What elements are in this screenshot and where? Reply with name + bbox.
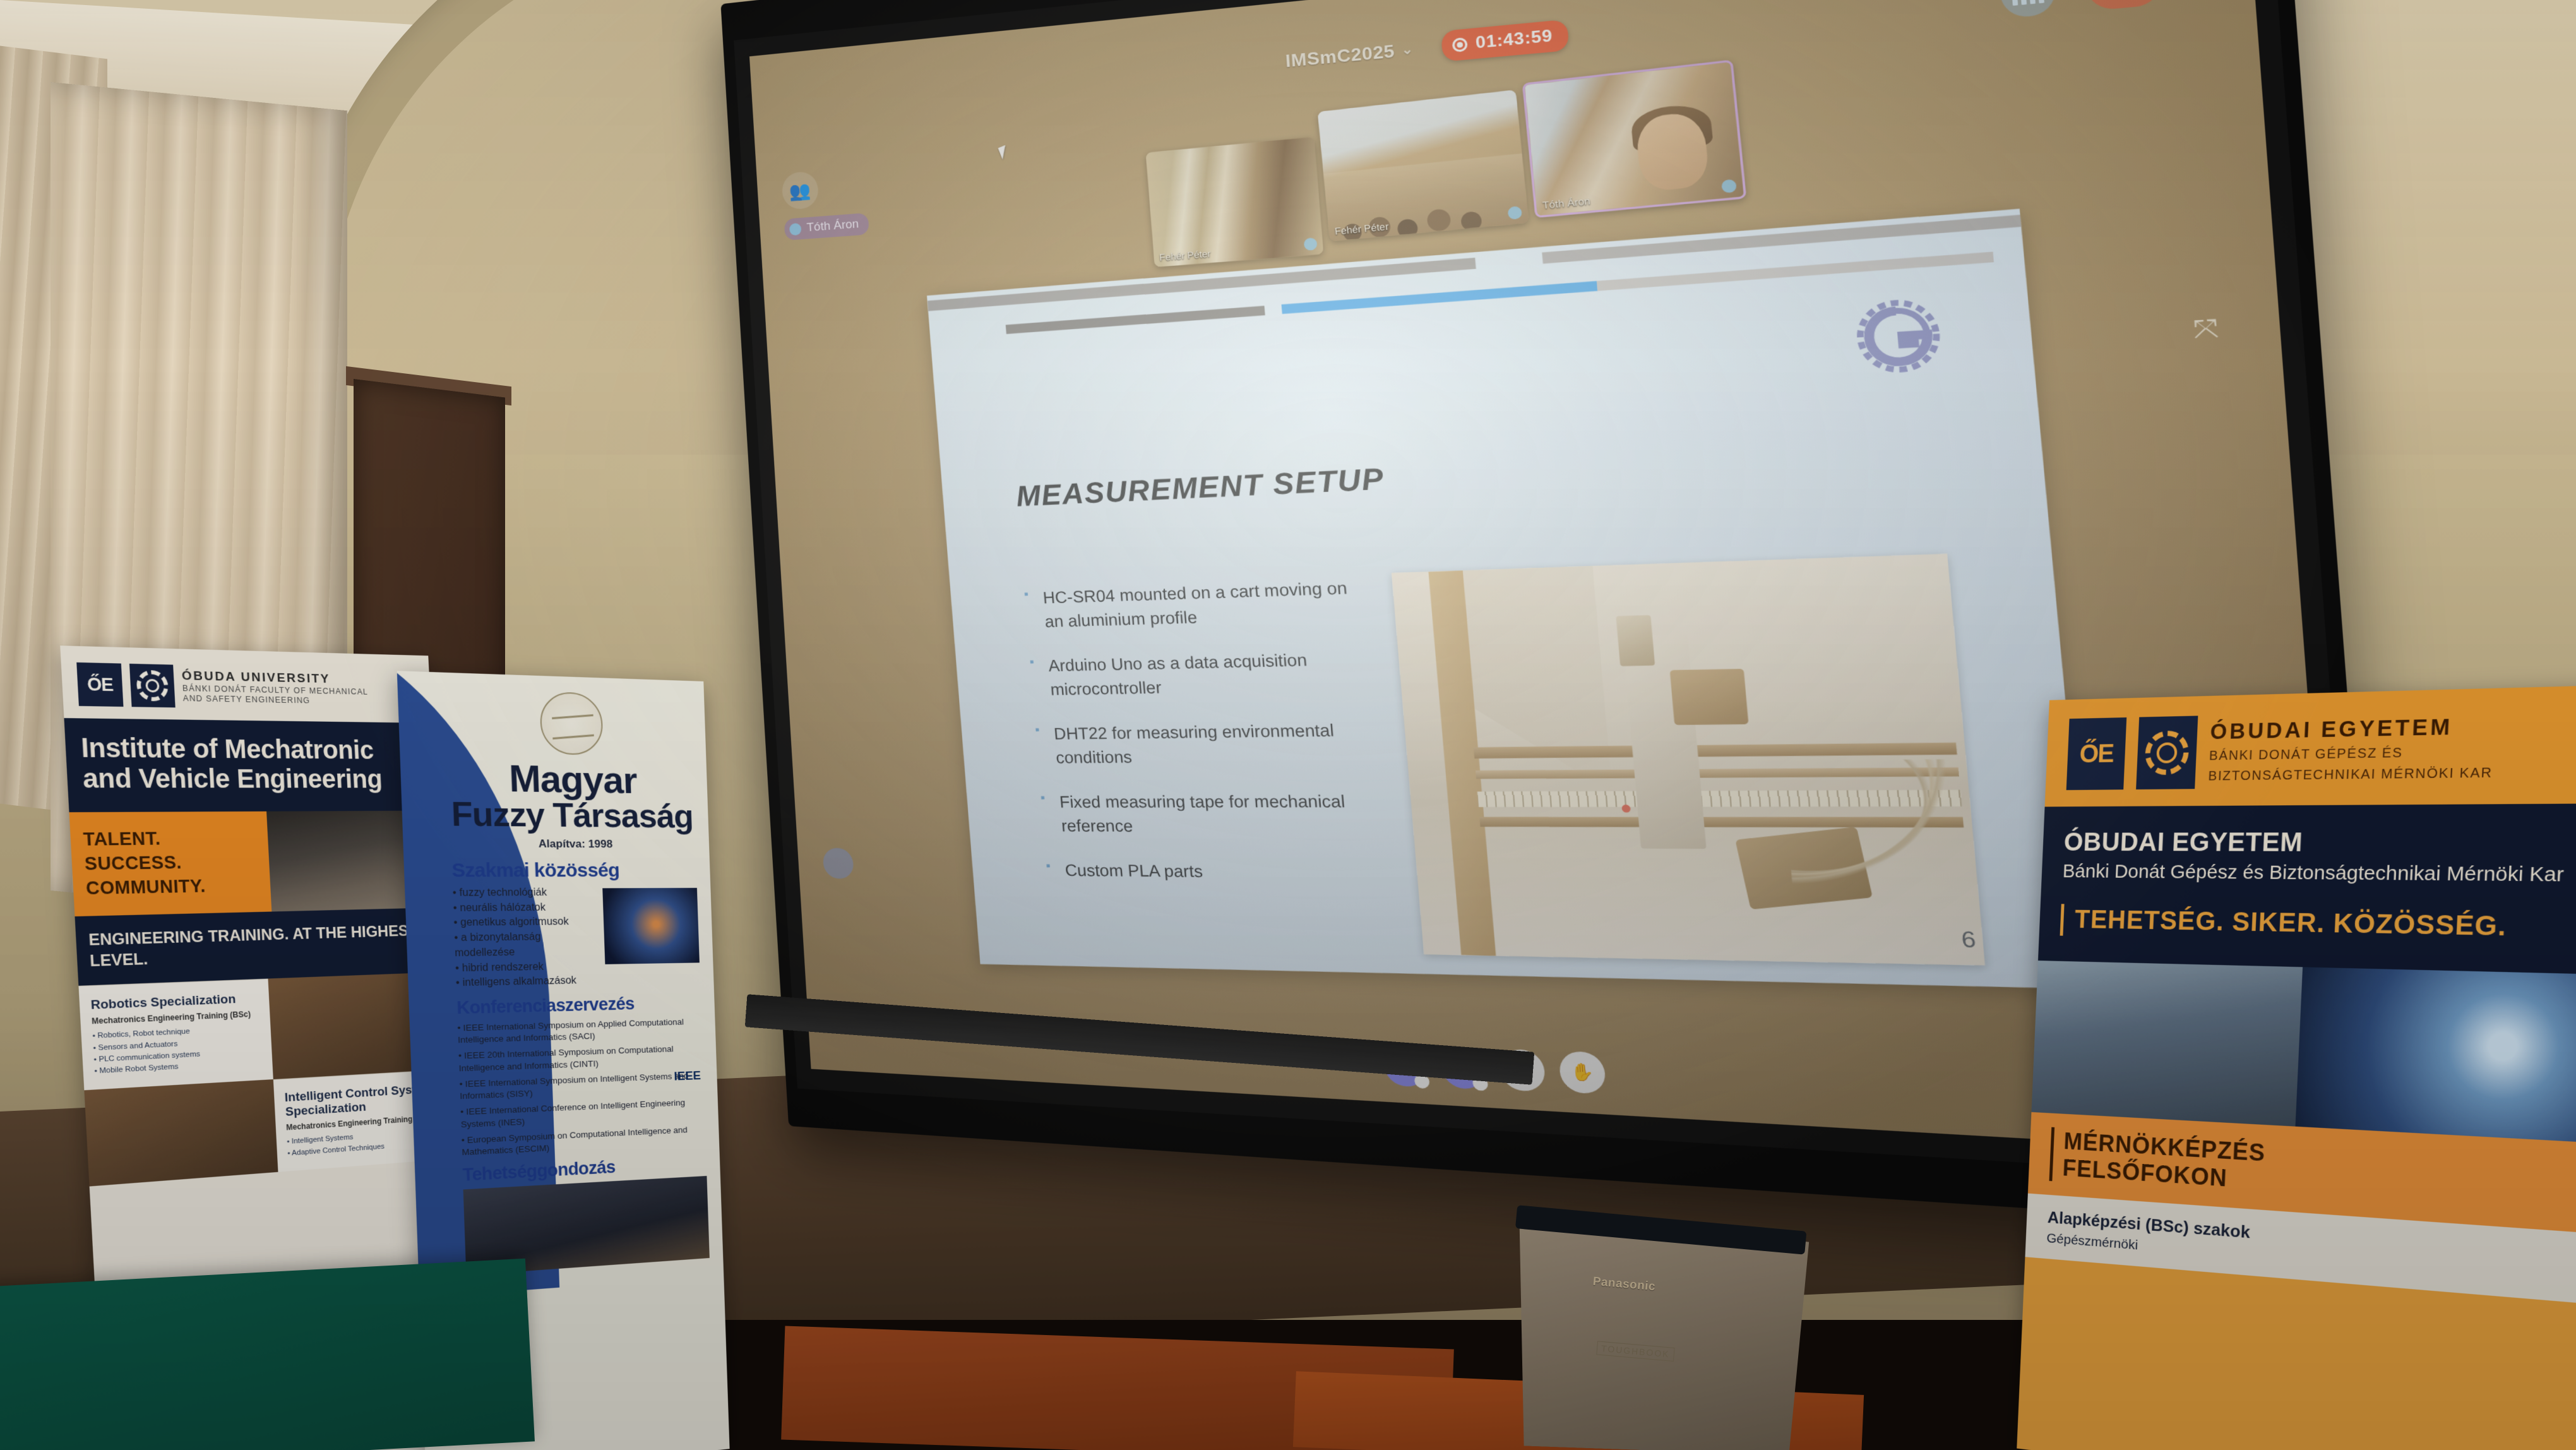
obuda-logo-icon: ŐE xyxy=(76,662,123,707)
banner-right-university-caps: ÓBUDAI EGYETEM xyxy=(2210,713,2495,744)
decorative-orb-left xyxy=(822,848,854,879)
bbb-top-right-actions: ↦ xyxy=(1999,0,2202,19)
chevron-down-icon: ⌄ xyxy=(1401,41,1414,58)
banki-gear-logo-icon xyxy=(129,664,176,707)
presenter-name-label: Tóth Áron xyxy=(806,217,859,235)
fuzzy-founded: Alapítva: 1998 xyxy=(451,837,696,851)
leave-meeting-icon[interactable]: ↦ xyxy=(2085,0,2162,11)
video-tile-row: Fehér Péter Fehér Péter Tóth Áron xyxy=(1142,59,1746,253)
fuzzy-title-line2: Fuzzy Társaság xyxy=(449,797,695,833)
raise-hand-button[interactable]: ✋ xyxy=(1558,1051,1607,1094)
conference-gear-logo-icon xyxy=(1839,284,1959,388)
recording-timer: 01:43:59 xyxy=(1475,27,1553,53)
presenter-name-badge: Tóth Áron xyxy=(784,213,870,241)
banner-right-title-block: ÓBUDAI EGYETEM Bánki Donát Gépész és Biz… xyxy=(2041,803,2576,906)
banner-obudai-egyetem: ŐE ÓBUDAI EGYETEM BÁNKI DONÁT GÉPÉSZ ÉS … xyxy=(2017,684,2576,1450)
banner-right-faculty-caps-1: BÁNKI DONÁT GÉPÉSZ ÉS xyxy=(2209,743,2494,765)
slogan2-accent-bar xyxy=(2049,1127,2055,1180)
fullscreen-expand-icon[interactable]: ⤧ xyxy=(2185,311,2227,347)
banner-left-photo-3 xyxy=(84,1079,278,1186)
video-tile-active-speaker[interactable]: Tóth Áron xyxy=(1522,59,1747,218)
slide-bullet: DHT22 for measuring environmental condit… xyxy=(1035,718,1388,770)
banner-left-header: ŐE ÓBUDA UNIVERSITY BÁNKI DONÁT FACULTY … xyxy=(60,645,431,723)
mouse-cursor-icon xyxy=(998,145,1010,160)
fuzzy-topic: fuzzy technológiák xyxy=(452,885,596,901)
slide-title: MEASUREMENT SETUP xyxy=(1015,462,1385,513)
banner-right-header: ŐE ÓBUDAI EGYETEM BÁNKI DONÁT GÉPÉSZ ÉS … xyxy=(2045,684,2576,807)
ieee-logo-icon: IEEE xyxy=(674,1069,701,1084)
video-tile[interactable]: Fehér Péter xyxy=(1318,90,1529,241)
banner-right-university: ÓBUDAI EGYETEM xyxy=(2063,827,2576,859)
fuzzy-topic: a bizonytalanság modellezése xyxy=(454,930,599,961)
bbb-left-overlay: 👥 Tóth Áron xyxy=(781,167,869,241)
fuzzy-section2-title: Konferenciaszervezés xyxy=(456,993,701,1019)
banner-right-faculty-caps-2: BIZTONSÁGTECHNIKAI MÉRNÖKI KAR xyxy=(2208,764,2493,785)
conference-item: IEEE International Symposium on Applied … xyxy=(457,1016,702,1046)
slide-bullet-list: HC-SR04 mounted on a cart moving on an a… xyxy=(1023,576,1399,909)
video-tile[interactable]: Fehér Péter xyxy=(1145,136,1323,267)
fuzzy-section1-title: Szakmai közösség xyxy=(451,860,697,882)
banner-right-photo-campus xyxy=(2031,961,2303,1127)
presenter-laptop: Panasonic TOUGHBOOK xyxy=(1499,1210,1823,1450)
connection-status-icon[interactable] xyxy=(1999,0,2056,19)
banner-right-photo-machine xyxy=(2296,967,2576,1145)
fuzzy-topic: intelligens alkalmazások xyxy=(456,974,600,992)
conference-item: IEEE 20th International Symposium on Com… xyxy=(458,1043,703,1074)
meeting-name-label: IMSmC2025 xyxy=(1285,40,1395,72)
fuzzy-topic: genetikus algoritmusok xyxy=(453,915,597,932)
banki-gear-logo-icon xyxy=(2136,716,2198,789)
measurement-setup-photo xyxy=(1392,554,1985,966)
slide-bullet: HC-SR04 mounted on a cart moving on an a… xyxy=(1023,576,1375,635)
ai-brain-image xyxy=(602,888,700,964)
fuzzy-title-line1: Magyar xyxy=(448,758,694,800)
presenter-avatar-dot xyxy=(789,222,802,235)
banner-left-slogan: TALENT. SUCCESS. COMMUNITY. xyxy=(69,811,272,916)
conference-room-scene: IMSmC2025 ⌄ 01:43:59 ↦ xyxy=(0,0,2576,1450)
slide-bullet: Arduino Uno as a data acquisition microc… xyxy=(1029,647,1381,702)
record-dot-icon xyxy=(1452,37,1467,52)
presentation-slide[interactable]: MEASUREMENT SETUP HC-SR04 mounted on a c… xyxy=(927,209,2092,989)
banner-right-faculty: Bánki Donát Gépész és Biztonságtechnikai… xyxy=(2062,861,2576,887)
specialization-card: Robotics Specialization Mechatronics Eng… xyxy=(78,979,273,1091)
banner-right-slogan: TEHETSÉG. SIKER. KÖZÖSSÉG. xyxy=(2074,904,2507,944)
meeting-header: IMSmC2025 ⌄ 01:43:59 xyxy=(1285,20,1570,76)
users-icon[interactable]: 👥 xyxy=(781,171,819,210)
slogan-accent-bar xyxy=(2060,904,2065,935)
fuzzy-topic: neurális hálózatok xyxy=(453,901,597,916)
fuzzy-society-seal-icon xyxy=(539,692,604,755)
obuda-logo-icon: ŐE xyxy=(2066,717,2127,790)
recording-indicator[interactable]: 01:43:59 xyxy=(1441,20,1569,62)
banner-left-headline: Institute of Mechatronic and Vehicle Eng… xyxy=(64,718,436,812)
slide-bullet: Fixed measuring tape for mechanical refe… xyxy=(1040,790,1393,839)
slide-bullet: Custom PLA parts xyxy=(1046,859,1397,886)
slide-page-number: 6 xyxy=(1960,927,1977,953)
meeting-name-dropdown[interactable]: IMSmC2025 ⌄ xyxy=(1285,39,1414,71)
green-covered-table xyxy=(0,1259,535,1450)
